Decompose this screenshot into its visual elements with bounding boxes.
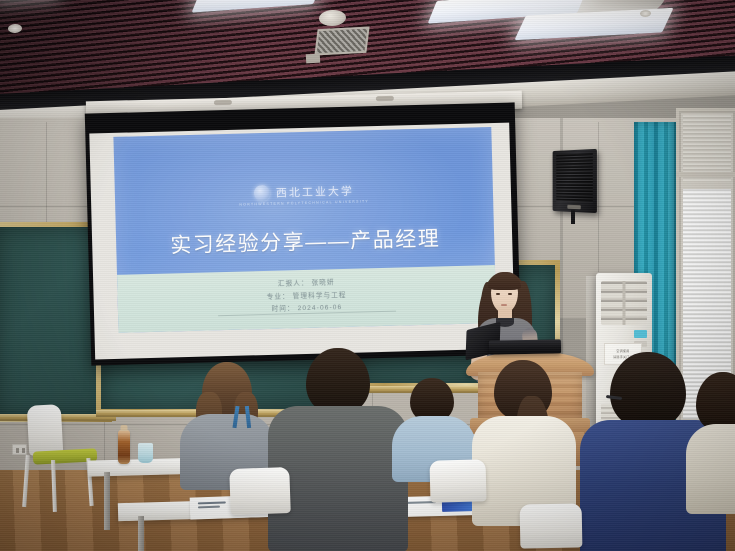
presenter-eye — [508, 293, 512, 295]
empty-chair-back[interactable] — [27, 404, 64, 456]
ac-sign-line-1: 空调使用 — [616, 349, 629, 353]
projection-screen: 西北工业大学 NORTHWESTERN POLYTECHNICAL UNIVER… — [85, 102, 521, 365]
vent-stub — [306, 54, 320, 64]
laptop[interactable] — [489, 339, 561, 354]
desk-leg — [138, 516, 144, 551]
presenter-eye — [496, 293, 500, 295]
speaker-bracket — [571, 210, 575, 224]
slide-meta-block: 汇报人： 张晓妍 专业： 管理科学与工程 时间： 2024-06-06 — [266, 277, 347, 317]
person-head — [610, 352, 686, 428]
screen-surface: 西北工业大学 NORTHWESTERN POLYTECHNICAL UNIVER… — [89, 123, 515, 360]
mount-clip — [214, 100, 232, 105]
ac-display-icon — [634, 330, 647, 338]
university-logo: 西北工业大学 — [254, 183, 354, 202]
audience-chair-back[interactable] — [429, 459, 486, 502]
person-torso — [686, 424, 735, 514]
speaker-badge — [567, 205, 580, 210]
outlet-slot — [16, 448, 19, 453]
wall-speaker — [553, 149, 597, 213]
logo-emblem-icon — [254, 185, 270, 201]
ac-louver-divider — [623, 281, 626, 325]
bottle-cap — [121, 425, 128, 431]
presenter-mouth — [501, 304, 507, 306]
paper-text-line — [198, 506, 220, 509]
paper-cup[interactable] — [138, 443, 153, 463]
outlet-slot — [22, 448, 25, 453]
wall-outlet — [12, 444, 27, 455]
logo-text: 西北工业大学 — [276, 183, 354, 201]
audience-chair-back[interactable] — [229, 467, 291, 515]
slide-footer-band: 汇报人： 张晓妍 专业： 管理科学与工程 时间： 2024-06-06 — [117, 265, 496, 333]
slide-title: 实习经验分享——产品经理 — [170, 222, 441, 259]
beverage-bottle[interactable] — [118, 430, 130, 464]
presentation-slide: 西北工业大学 NORTHWESTERN POLYTECHNICAL UNIVER… — [113, 127, 496, 333]
hvac-vent-icon — [314, 27, 369, 56]
speaker-grille — [556, 153, 593, 202]
classroom-photo: 西北工业大学 NORTHWESTERN POLYTECHNICAL UNIVER… — [0, 0, 735, 551]
mount-clip — [376, 96, 394, 101]
paper-text-line — [198, 501, 226, 504]
window-mullion — [676, 172, 735, 177]
wall-seam — [598, 122, 599, 272]
wall-seam — [46, 122, 47, 222]
audience-chair-back[interactable] — [520, 503, 583, 548]
desk-leg — [104, 472, 110, 530]
person-head — [306, 348, 370, 414]
